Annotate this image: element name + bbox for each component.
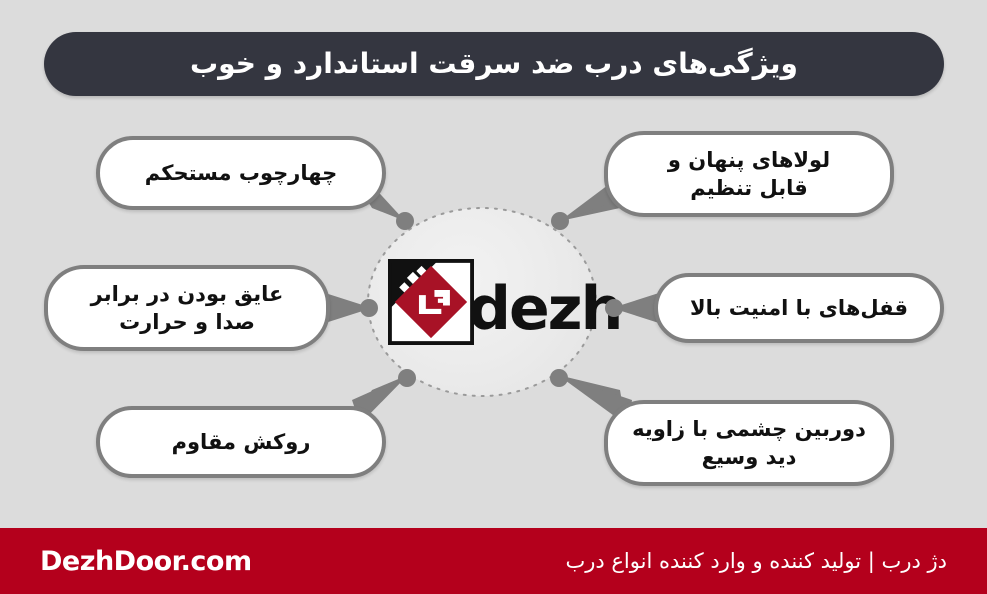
- feature-label-hinges-line1: لولاهای پنهان و: [668, 146, 830, 174]
- feature-bubble-peephole[interactable]: دوربین چشمی با زاویه دید وسیع: [604, 400, 894, 486]
- page-title-banner: ویژگی‌های درب ضد سرقت استاندارد و خوب: [44, 32, 944, 96]
- brand-logo: dezh: [388, 254, 610, 350]
- footer-bar: دژ درب | تولید کننده و وارد کننده انواع …: [0, 528, 987, 594]
- page-title: ویژگی‌های درب ضد سرقت استاندارد و خوب: [190, 49, 798, 80]
- footer-website[interactable]: DezhDoor.com: [40, 546, 252, 577]
- feature-label-coating: روکش مقاوم: [172, 428, 311, 456]
- feature-label-locks: قفل‌های با امنیت بالا: [690, 294, 908, 322]
- feature-label-hinges-line2: قابل تنظیم: [690, 174, 808, 202]
- feature-bubble-locks[interactable]: قفل‌های با امنیت بالا: [654, 273, 944, 343]
- infographic-canvas: ویژگی‌های درب ضد سرقت استاندارد و خوب: [0, 0, 987, 594]
- dezh-logo-mark: [388, 259, 474, 345]
- feature-bubble-coating[interactable]: روکش مقاوم: [96, 406, 386, 478]
- footer-tagline: دژ درب | تولید کننده و وارد کننده انواع …: [565, 549, 947, 573]
- feature-bubble-insulation[interactable]: عایق بودن در برابر صدا و حرارت: [44, 265, 330, 351]
- feature-label-insulation-line2: صدا و حرارت: [119, 308, 255, 336]
- feature-label-insulation-line1: عایق بودن در برابر: [91, 280, 284, 308]
- feature-bubble-frame[interactable]: چهارچوب مستحکم: [96, 136, 386, 210]
- feature-label-frame: چهارچوب مستحکم: [145, 159, 337, 187]
- feature-bubble-hinges[interactable]: لولاهای پنهان و قابل تنظیم: [604, 131, 894, 217]
- feature-label-peephole-line1: دوربین چشمی با زاویه: [632, 415, 866, 443]
- center-hub: dezh: [368, 208, 596, 396]
- feature-label-peephole-line2: دید وسیع: [702, 443, 797, 471]
- dezh-logo-wordmark: dezh: [468, 279, 621, 339]
